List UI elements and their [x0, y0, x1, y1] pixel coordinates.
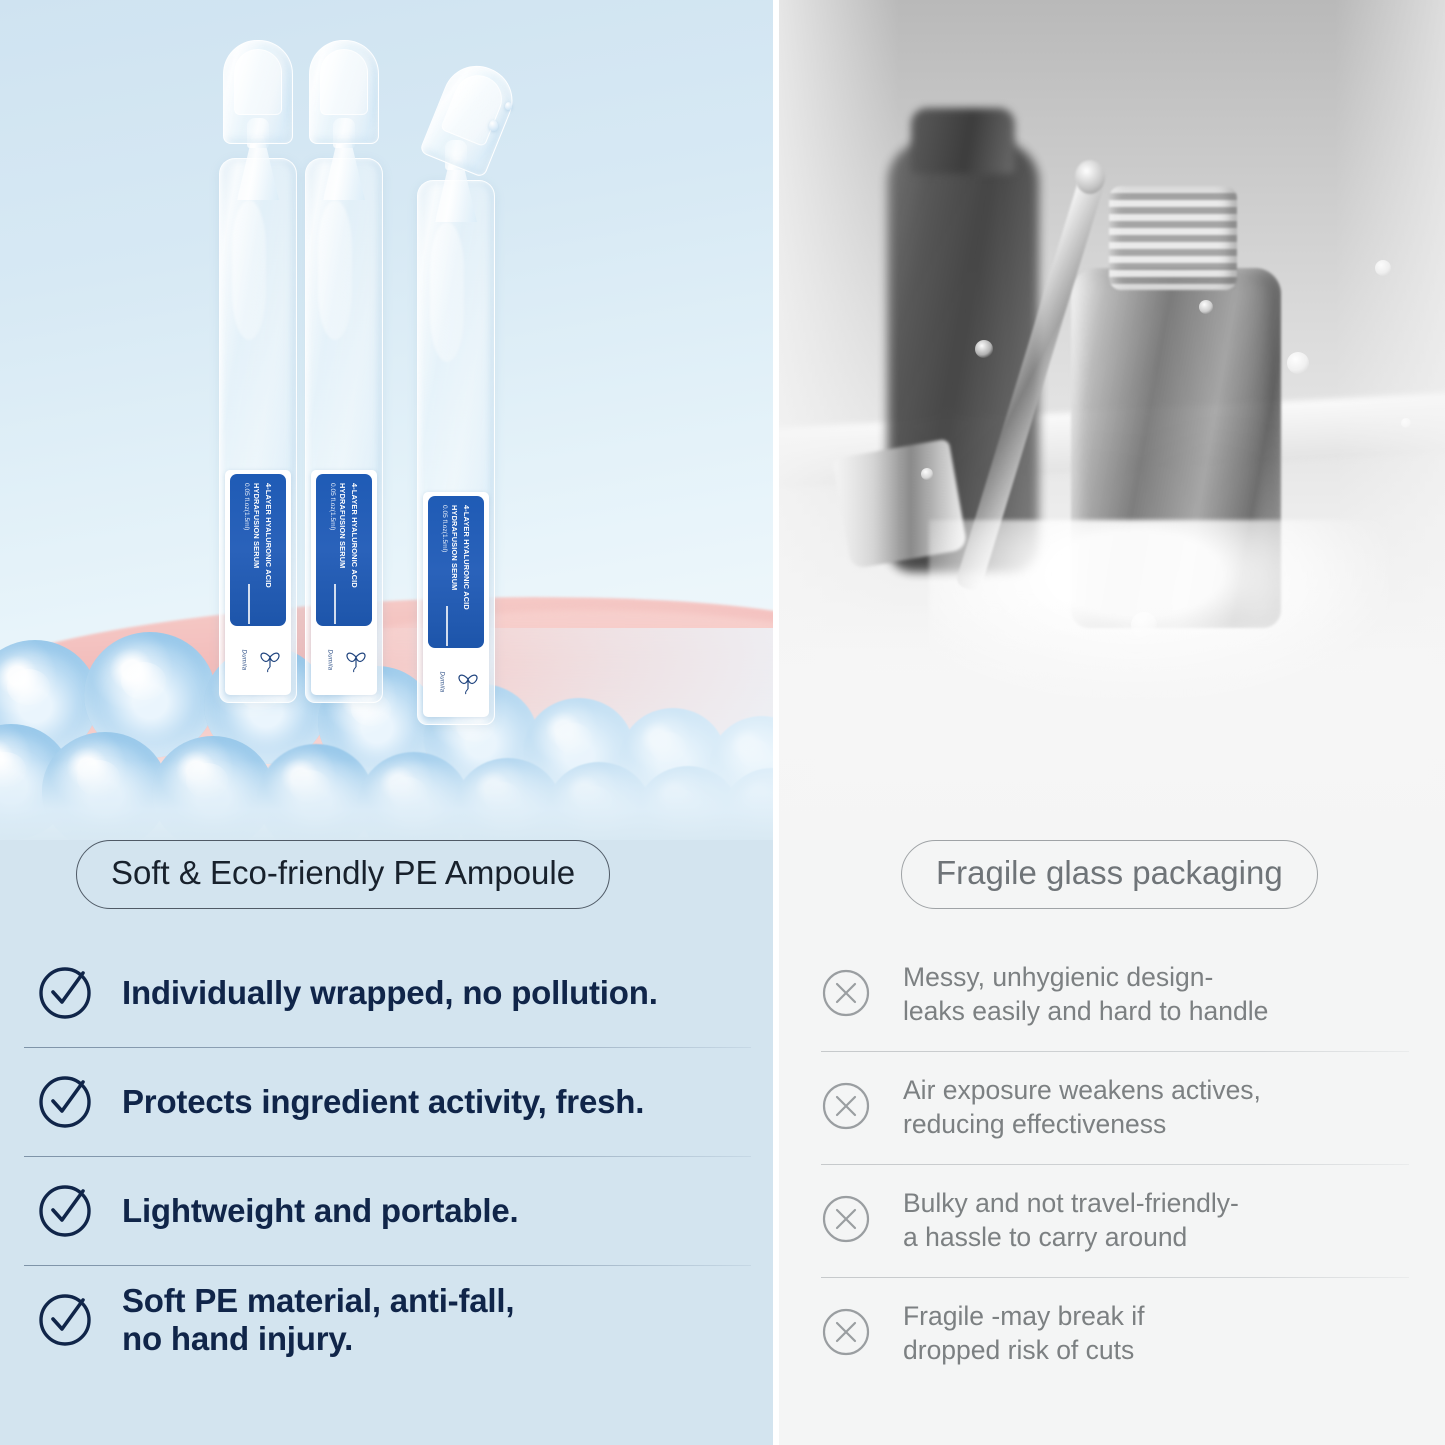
brand-logo: Dumila [311, 629, 377, 691]
list-item: Bulky and not travel-friendly- a hassle … [779, 1165, 1445, 1277]
list-item-label: Lightweight and portable. [122, 1192, 518, 1230]
brand-name: Dumila [327, 649, 333, 670]
check-circle-icon [34, 1069, 96, 1136]
label-product-name-line1: 4-LAYER HYALURONIC ACID [462, 505, 471, 648]
check-circle-icon [34, 960, 96, 1027]
list-item-label: Air exposure weakens actives, reducing e… [903, 1074, 1261, 1142]
brand-logo: Dumila [225, 629, 291, 691]
list-item-label: Bulky and not travel-friendly- a hassle … [903, 1187, 1239, 1255]
list-item-label: Protects ingredient activity, fresh. [122, 1083, 644, 1121]
label-product-name-line2: HYDRAFUSION SERUM [450, 505, 459, 648]
list-item: Air exposure weakens actives, reducing e… [779, 1052, 1445, 1164]
check-circle-icon [34, 1178, 96, 1245]
right-content: Fragile glass packaging Messy, unhygieni… [779, 840, 1445, 1390]
left-feature-list: Individually wrapped, no pollution. Prot… [0, 939, 773, 1374]
ampoule-cap [223, 40, 293, 144]
bubble-bottom-fade [0, 760, 773, 840]
ampoule-label: 4-LAYER HYALURONIC ACID HYDRAFUSION SERU… [225, 470, 291, 695]
label-product-name-line2: HYDRAFUSION SERUM [252, 483, 261, 626]
list-item: Individually wrapped, no pollution. [0, 939, 773, 1047]
butterfly-icon [343, 647, 369, 673]
x-circle-icon [819, 1079, 873, 1138]
list-item-label: Individually wrapped, no pollution. [122, 974, 658, 1012]
label-product-name-line1: 4-LAYER HYALURONIC ACID [264, 483, 273, 626]
ampoule-cap [309, 40, 379, 144]
ampoule-label: 4-LAYER HYALURONIC ACID HYDRAFUSION SERU… [423, 492, 489, 717]
serum-droplet-small [505, 102, 512, 110]
glass-bottle-photo [779, 0, 1445, 840]
list-item: Protects ingredient activity, fresh. [0, 1048, 773, 1156]
pe-ampoule-group: 4-LAYER HYALURONIC ACID HYDRAFUSION SERU… [215, 40, 545, 680]
ampoule-cap-open [419, 56, 523, 179]
list-item: Lightweight and portable. [0, 1157, 773, 1265]
list-item: Soft PE material, anti-fall, no hand inj… [0, 1266, 773, 1374]
right-panel: Fragile glass packaging Messy, unhygieni… [779, 0, 1445, 1445]
label-product-name-line1: 4-LAYER HYALURONIC ACID [350, 483, 359, 626]
comparison-infographic: 4-LAYER HYALURONIC ACID HYDRAFUSION SERU… [0, 0, 1445, 1445]
x-circle-icon [819, 1192, 873, 1251]
brand-name: Dumila [439, 671, 445, 692]
brand-name: Dumila [241, 649, 247, 670]
left-content: Soft & Eco-friendly PE Ampoule Individua… [0, 840, 773, 1374]
list-item: Fragile -may break if dropped risk of cu… [779, 1278, 1445, 1390]
x-circle-icon [819, 1305, 873, 1364]
right-drawback-list: Messy, unhygienic design- leaks easily a… [779, 939, 1445, 1390]
x-circle-icon [819, 966, 873, 1025]
list-item-label: Soft PE material, anti-fall, no hand inj… [122, 1282, 514, 1359]
left-panel-title: Soft & Eco-friendly PE Ampoule [76, 840, 610, 909]
butterfly-icon [455, 669, 481, 695]
serum-droplet [489, 120, 498, 131]
left-panel: 4-LAYER HYALURONIC ACID HYDRAFUSION SERU… [0, 0, 773, 1445]
ampoule-label: 4-LAYER HYALURONIC ACID HYDRAFUSION SERU… [311, 470, 377, 695]
brand-logo: Dumila [423, 651, 489, 713]
label-product-name-line2: HYDRAFUSION SERUM [338, 483, 347, 626]
left-hero-illustration: 4-LAYER HYALURONIC ACID HYDRAFUSION SERU… [0, 0, 773, 840]
panel-divider [773, 0, 779, 1445]
butterfly-icon [257, 647, 283, 673]
check-circle-icon [34, 1287, 96, 1354]
list-item-label: Messy, unhygienic design- leaks easily a… [903, 961, 1268, 1029]
list-item-label: Fragile -may break if dropped risk of cu… [903, 1300, 1145, 1368]
list-item: Messy, unhygienic design- leaks easily a… [779, 939, 1445, 1051]
right-panel-title: Fragile glass packaging [901, 840, 1318, 909]
